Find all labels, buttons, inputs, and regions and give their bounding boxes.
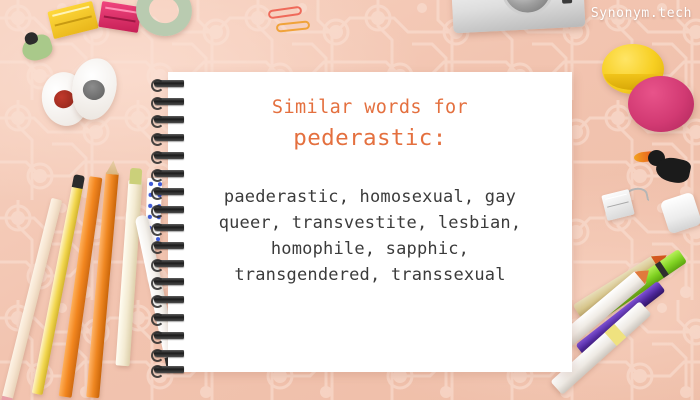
spiral-coil bbox=[154, 278, 184, 285]
page-title-keyword: pederastic: bbox=[168, 122, 572, 154]
spiral-coil bbox=[154, 224, 184, 231]
spiral-coil bbox=[154, 188, 184, 195]
synonym-line: homophile, sapphic, bbox=[168, 236, 572, 262]
spiral-coil bbox=[154, 134, 184, 141]
spiral-coil bbox=[154, 366, 184, 373]
spiral-binding bbox=[150, 78, 188, 374]
spiral-coil bbox=[154, 170, 184, 177]
camera-button bbox=[562, 0, 573, 4]
spiral-coil bbox=[154, 242, 184, 249]
spiral-coil bbox=[154, 206, 184, 213]
synonym-line: queer, transvestite, lesbian, bbox=[168, 210, 572, 236]
spiral-coil bbox=[154, 350, 184, 357]
spiral-coil bbox=[154, 152, 184, 159]
spiral-coil bbox=[154, 332, 184, 339]
page-content: Similar words for pederastic: paederasti… bbox=[168, 72, 572, 372]
spiral-coil bbox=[154, 116, 184, 123]
site-watermark: Synonym.tech bbox=[591, 6, 692, 21]
synonym-line: paederastic, homosexual, gay bbox=[168, 184, 572, 210]
notebook-page: Similar words for pederastic: paederasti… bbox=[168, 72, 572, 372]
desk-scene: Similar words for pederastic: paederasti… bbox=[0, 0, 700, 400]
synonym-list: paederastic, homosexual, gay queer, tran… bbox=[168, 184, 572, 288]
macaron-pink bbox=[628, 76, 694, 132]
spiral-coil bbox=[154, 80, 184, 87]
page-title-prefix: Similar words for bbox=[168, 94, 572, 122]
spiral-coil bbox=[154, 98, 184, 105]
synonym-line: transgendered, transsexual bbox=[168, 262, 572, 288]
spiral-coil bbox=[154, 314, 184, 321]
spiral-coil bbox=[154, 260, 184, 267]
spiral-coil bbox=[154, 296, 184, 303]
